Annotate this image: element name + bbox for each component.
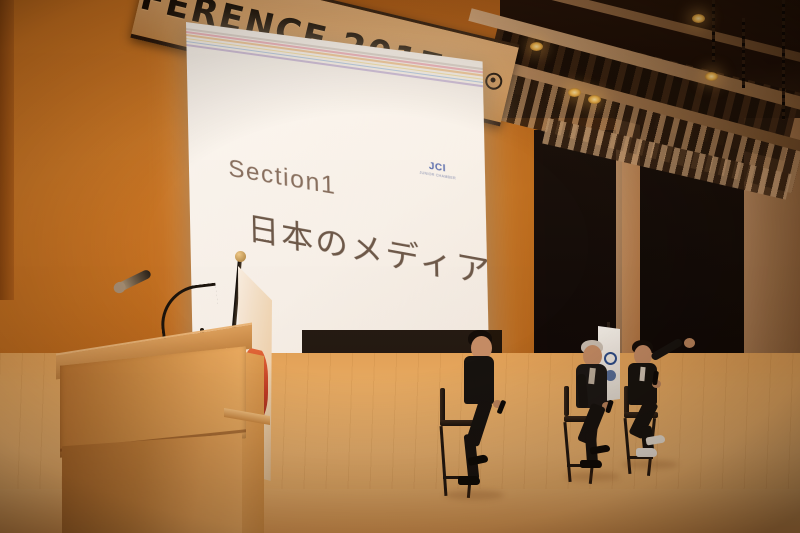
ceiling-spotlight-5 bbox=[705, 72, 718, 81]
lectern-base bbox=[62, 434, 242, 533]
slide-corner-logo: JCI JUNIOR CHAMBER bbox=[419, 159, 456, 181]
ceiling-spotlight-2 bbox=[568, 88, 581, 97]
ceiling-cable-2 bbox=[742, 18, 745, 88]
panelist-right bbox=[622, 340, 702, 460]
left-wall-edge bbox=[0, 0, 14, 300]
raised-hand bbox=[684, 338, 695, 348]
flag-finial-icon bbox=[235, 251, 246, 262]
shoe bbox=[458, 476, 480, 485]
ceiling-spotlight-3 bbox=[588, 95, 601, 104]
raised-arm bbox=[650, 338, 683, 362]
jci-circle-emblem-icon bbox=[484, 71, 504, 91]
shoe bbox=[580, 460, 602, 468]
ceiling-cable-3 bbox=[782, 0, 785, 120]
slide-section-label: Section1 bbox=[228, 155, 337, 202]
ceiling-cable-1 bbox=[712, 0, 715, 62]
ceiling-spotlight-1 bbox=[530, 42, 543, 51]
conference-stage-photo: SUMMER CONFERENCE 2017 JCI JCI JUNIOR CH… bbox=[0, 0, 800, 533]
white-sneaker bbox=[636, 448, 657, 457]
panelist-left bbox=[452, 330, 522, 500]
wooden-lectern bbox=[56, 316, 278, 533]
ceiling-spotlight-4 bbox=[692, 14, 705, 23]
